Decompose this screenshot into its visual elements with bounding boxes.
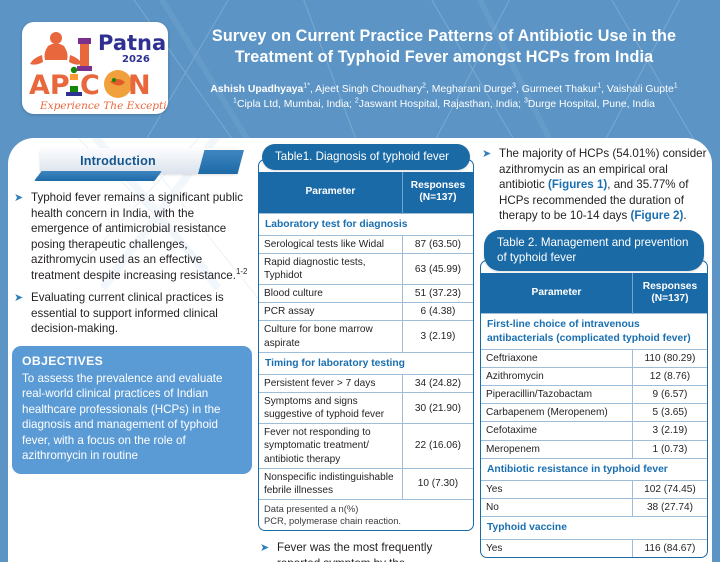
affil-3: Durge Hospital, Pune, India [528,99,655,110]
table1-wrapper: Table1. Diagnosis of typhoid fever Param… [258,144,474,531]
cell-parameter: Serological tests like Widal [259,235,402,253]
svg-text:C: C [80,70,100,101]
objectives-title: OBJECTIVES [22,354,242,368]
footnote-line-1: Data presented a n(%) [264,503,468,515]
cell-parameter: Ceftriaxone [481,350,632,368]
cell-responses: 34 (24.82) [402,375,473,393]
table2-col-responses: Responses (N=137) [632,273,707,314]
table1-col-responses: Responses (N=137) [402,172,473,213]
cell-parameter: Culture for bone marrow aspirate [259,321,402,352]
cell-parameter: PCR assay [259,303,402,321]
affil-1: Cipla Ltd, Mumbai, India; [237,99,355,110]
arrow-bullet-icon: ➤ [14,191,23,206]
figure2-reference: (Figure 2) [630,209,683,222]
lead-author-sup: 1* [303,82,310,89]
table-row: Yes102 (74.45) [481,481,707,499]
cell-responses: 110 (80.29) [632,350,707,368]
author-5: , Vaishali Gupte [601,84,674,95]
arrow-bullet-icon: ➤ [14,291,23,306]
author-list: Ashish Upadhyaya1*, Ajeet Singh Choudhar… [176,82,712,112]
table-section-header: Typhoid vaccine [481,517,707,539]
table2-col-parameter: Parameter [481,273,632,314]
cell-parameter: Meropenem [481,440,632,458]
cell-responses: 12 (8.76) [632,368,707,386]
title-line-2: Treatment of Typhoid Fever amongst HCPs … [176,47,712,68]
ribbon-tab-left [34,171,162,181]
cell-parameter: Yes [481,481,632,499]
results-bullet-list: ➤ The majority of HCPs (54.01%) consider… [480,146,708,224]
svg-text:Experience The Exception: Experience The Exception [39,100,168,112]
table1-footnote-row: Data presented a n(%) PCR, polymerase ch… [259,499,473,530]
cell-responses: 116 (84.67) [632,539,707,557]
bullet-text: Typhoid fever remains a significant publ… [31,191,243,282]
figure1-reference: (Figures 1) [548,178,607,191]
bullet-text: Evaluating current clinical practices is… [31,291,224,335]
section-label: Typhoid vaccine [481,517,707,539]
cell-parameter: Rapid diagnostic tests, Typhidot [259,254,402,285]
apicon-logo-icon: Patna 2026 AP C N Experience The Excepti… [22,22,168,114]
table-section-header: Antibiotic resistance in typhoid fever [481,458,707,480]
cell-parameter: No [481,499,632,517]
author-3: , Megharani Durge [426,84,512,95]
cell-parameter: Yes [481,539,632,557]
list-item: ➤ Evaluating current clinical practices … [12,290,252,337]
cell-responses: 51 (37.23) [402,285,473,303]
cell-parameter: Cefotaxime [481,422,632,440]
reference-superscript: 1-2 [236,267,247,276]
list-item: ➤ Typhoid fever remains a significant pu… [12,190,252,283]
svg-text:2026: 2026 [122,54,150,65]
affiliations-line: 1Cipla Ltd, Mumbai, India; 2Jaswant Hosp… [176,97,712,112]
table-row: Meropenem1 (0.73) [481,440,707,458]
section-label: Antibiotic resistance in typhoid fever [481,458,707,480]
table1-col-parameter: Parameter [259,172,402,213]
cell-responses: 9 (6.57) [632,386,707,404]
title-line-1: Survey on Current Practice Patterns of A… [176,26,712,47]
lead-author: Ashish Upadhyaya [210,84,303,95]
cell-parameter: Fever not responding to symptomatic trea… [259,424,402,468]
objectives-box: OBJECTIVES To assess the prevalence and … [12,346,252,474]
cell-responses: 3 (2.19) [402,321,473,352]
cell-responses: 3 (2.19) [632,422,707,440]
introduction-bullet-list: ➤ Typhoid fever remains a significant pu… [12,190,252,337]
table-section-header: Timing for laboratory testing [259,352,473,374]
table2-body: First-line choice of intravenous antibac… [481,314,707,557]
cell-responses: 10 (7.30) [402,468,473,499]
introduction-heading-ribbon: Introduction [12,146,252,188]
cell-responses: 38 (27.74) [632,499,707,517]
cell-responses: 22 (16.06) [402,424,473,468]
bullet-text: Fever was the most frequently reported s… [277,541,432,562]
cell-responses: 30 (21.90) [402,393,473,424]
table-row: PCR assay6 (4.38) [259,303,473,321]
cell-parameter: Azithromycin [481,368,632,386]
table1-body: Laboratory test for diagnosis Serologica… [259,213,473,530]
conference-logo: Patna 2026 AP C N Experience The Excepti… [22,22,168,114]
section-label: First-line choice of intravenous antibac… [481,314,707,350]
middle-note-list: ➤ Fever was the most frequently reported… [258,540,474,562]
table-row: Cefotaxime3 (2.19) [481,422,707,440]
introduction-heading-text: Introduction [40,151,196,171]
table-row: Nonspecific indistinguishable febrile il… [259,468,473,499]
table1-footnote: Data presented a n(%) PCR, polymerase ch… [259,499,473,530]
arrow-bullet-icon: ➤ [260,541,269,556]
svg-text:N: N [128,70,151,101]
responses-label: Responses [637,281,703,293]
cell-parameter: Piperacillin/Tazobactam [481,386,632,404]
table-header-row: Parameter Responses (N=137) [259,172,473,213]
table1: Parameter Responses (N=137) Laboratory t… [259,172,473,530]
svg-text:Patna: Patna [98,31,166,55]
poster-header: Patna 2026 AP C N Experience The Excepti… [0,0,720,138]
author-2: , Ajeet Singh Choudhary [310,84,422,95]
cell-responses: 63 (45.99) [402,254,473,285]
cell-responses: 5 (3.65) [632,404,707,422]
column-results: ➤ The majority of HCPs (54.01%) consider… [480,138,708,558]
cell-responses: 1 (0.73) [632,440,707,458]
cell-responses: 6 (4.38) [402,303,473,321]
page-title: Survey on Current Practice Patterns of A… [176,26,712,69]
cell-parameter: Blood culture [259,285,402,303]
cell-parameter: Symptoms and signs suggestive of typhoid… [259,393,402,424]
bullet-part-3: . [683,209,686,222]
cell-parameter: Persistent fever > 7 days [259,375,402,393]
section-label: Timing for laboratory testing [259,352,473,374]
arrow-bullet-icon: ➤ [482,147,491,162]
table-row: Persistent fever > 7 days34 (24.82) [259,375,473,393]
objectives-body: To assess the prevalence and evaluate re… [22,371,242,464]
author-4: , Gurmeet Thakur [516,84,597,95]
list-item: ➤ Fever was the most frequently reported… [258,540,474,562]
table2-wrapper: Table 2. Management and prevention of ty… [480,230,708,558]
table1-title: Table1. Diagnosis of typhoid fever [262,144,470,170]
table-section-header: First-line choice of intravenous antibac… [481,314,707,350]
table-row: Ceftriaxone110 (80.29) [481,350,707,368]
column-introduction: Introduction ➤ Typhoid fever remains a s… [12,138,252,474]
affil-2: Jaswant Hospital, Rajasthan, India; [359,99,524,110]
table-row: Yes116 (84.67) [481,539,707,557]
cell-parameter: Nonspecific indistinguishable febrile il… [259,468,402,499]
table-row: Culture for bone marrow aspirate3 (2.19) [259,321,473,352]
table-row: Blood culture51 (37.23) [259,285,473,303]
table-row: Rapid diagnostic tests, Typhidot63 (45.9… [259,254,473,285]
table-row: Azithromycin12 (8.76) [481,368,707,386]
poster-body: Introduction ➤ Typhoid fever remains a s… [8,138,712,562]
table-row: Serological tests like Widal87 (63.50) [259,235,473,253]
section-label: Laboratory test for diagnosis [259,213,473,235]
table2-title: Table 2. Management and prevention of ty… [484,230,704,271]
list-item: ➤ The majority of HCPs (54.01%) consider… [480,146,708,224]
ribbon-tab-right [198,150,244,174]
table-section-header: Laboratory test for diagnosis [259,213,473,235]
title-block: Survey on Current Practice Patterns of A… [176,26,712,112]
svg-text:AP: AP [29,70,70,101]
authors-line: Ashish Upadhyaya1*, Ajeet Singh Choudhar… [176,82,712,97]
column-table1: Table1. Diagnosis of typhoid fever Param… [258,138,474,562]
table2-box: Parameter Responses (N=137) First-line c… [480,260,708,558]
cell-responses: 102 (74.45) [632,481,707,499]
cell-parameter: Carbapenem (Meropenem) [481,404,632,422]
table1-box: Parameter Responses (N=137) Laboratory t… [258,159,474,531]
footnote-line-2: PCR, polymerase chain reaction. [264,515,468,527]
table-header-row: Parameter Responses (N=137) [481,273,707,314]
cell-responses: 87 (63.50) [402,235,473,253]
table-row: Piperacillin/Tazobactam9 (6.57) [481,386,707,404]
table-row: Symptoms and signs suggestive of typhoid… [259,393,473,424]
author-5-sup: 1 [674,82,678,89]
table-row: Fever not responding to symptomatic trea… [259,424,473,468]
table-row: Carbapenem (Meropenem)5 (3.65) [481,404,707,422]
table2: Parameter Responses (N=137) First-line c… [481,273,707,557]
table-row: No38 (27.74) [481,499,707,517]
responses-label: Responses [407,180,469,192]
responses-n: (N=137) [407,192,469,204]
responses-n: (N=137) [637,293,703,305]
